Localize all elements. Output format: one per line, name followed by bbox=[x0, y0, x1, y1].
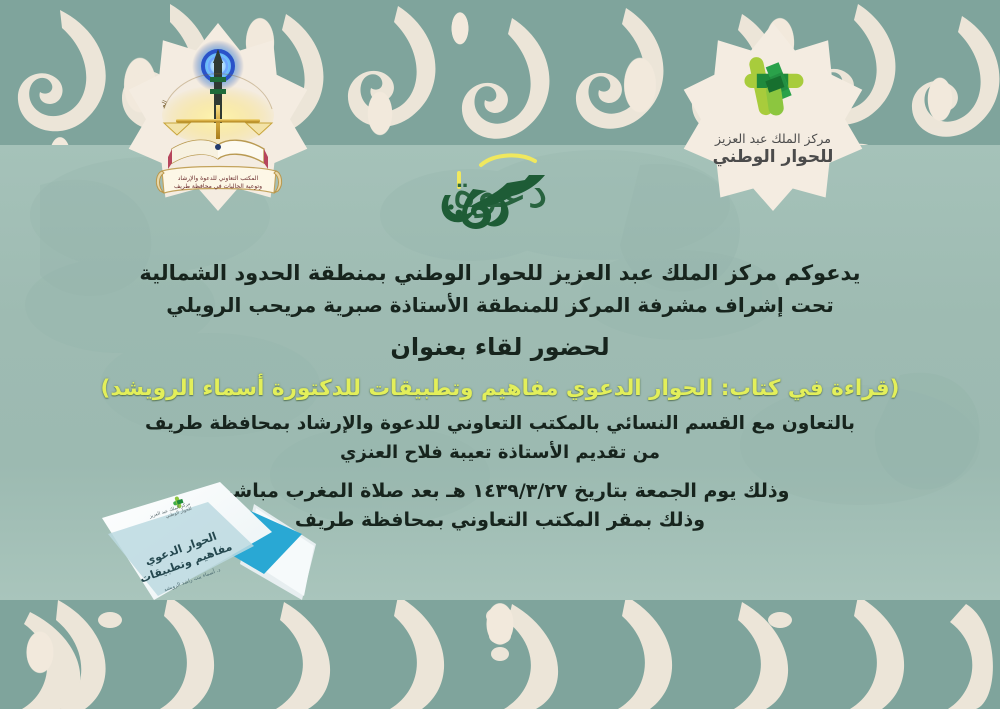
invitation-poster: المكتب التعاوني للدعوة والإرشاد وتوعية ا… bbox=[0, 0, 1000, 709]
line-presenter: من تقديم الأستاذة تعيبة فلاح العنزي bbox=[0, 439, 1000, 466]
line-book-title: (قراءة في كتاب: الحوار الدعوي مفاهيم وتط… bbox=[0, 373, 1000, 406]
line-invite: يدعوكم مركز الملك عبد العزيز للحوار الوط… bbox=[0, 258, 1000, 290]
book-illustration: مركز الملك عبد العزيز للحوار الوطني الحو… bbox=[58, 478, 326, 606]
dawah-calligraphy-icon: دعوة bbox=[395, 143, 605, 239]
line-lead: لحضور لقاء بعنوان bbox=[0, 329, 1000, 365]
kacnd-mark-icon bbox=[725, 49, 821, 127]
svg-text:دعوة: دعوة bbox=[452, 164, 548, 219]
calligraphy-headline-wrap: دعوة bbox=[0, 150, 1000, 232]
line-supervision: تحت إشراف مشرفة المركز للمنطقة الأستاذة … bbox=[0, 290, 1000, 320]
book-cover-image: مركز الملك عبد العزيز للحوار الوطني الحو… bbox=[58, 478, 326, 606]
kacnd-name-line1: مركز الملك عبد العزيز bbox=[713, 132, 834, 146]
line-cooperation: بالتعاون مع القسم النسائي بالمكتب التعاو… bbox=[0, 410, 1000, 438]
svg-text:المكتب التعاوني للدعوة والإرشا: المكتب التعاوني للدعوة والإرشاد وتوعية bbox=[124, 23, 169, 110]
